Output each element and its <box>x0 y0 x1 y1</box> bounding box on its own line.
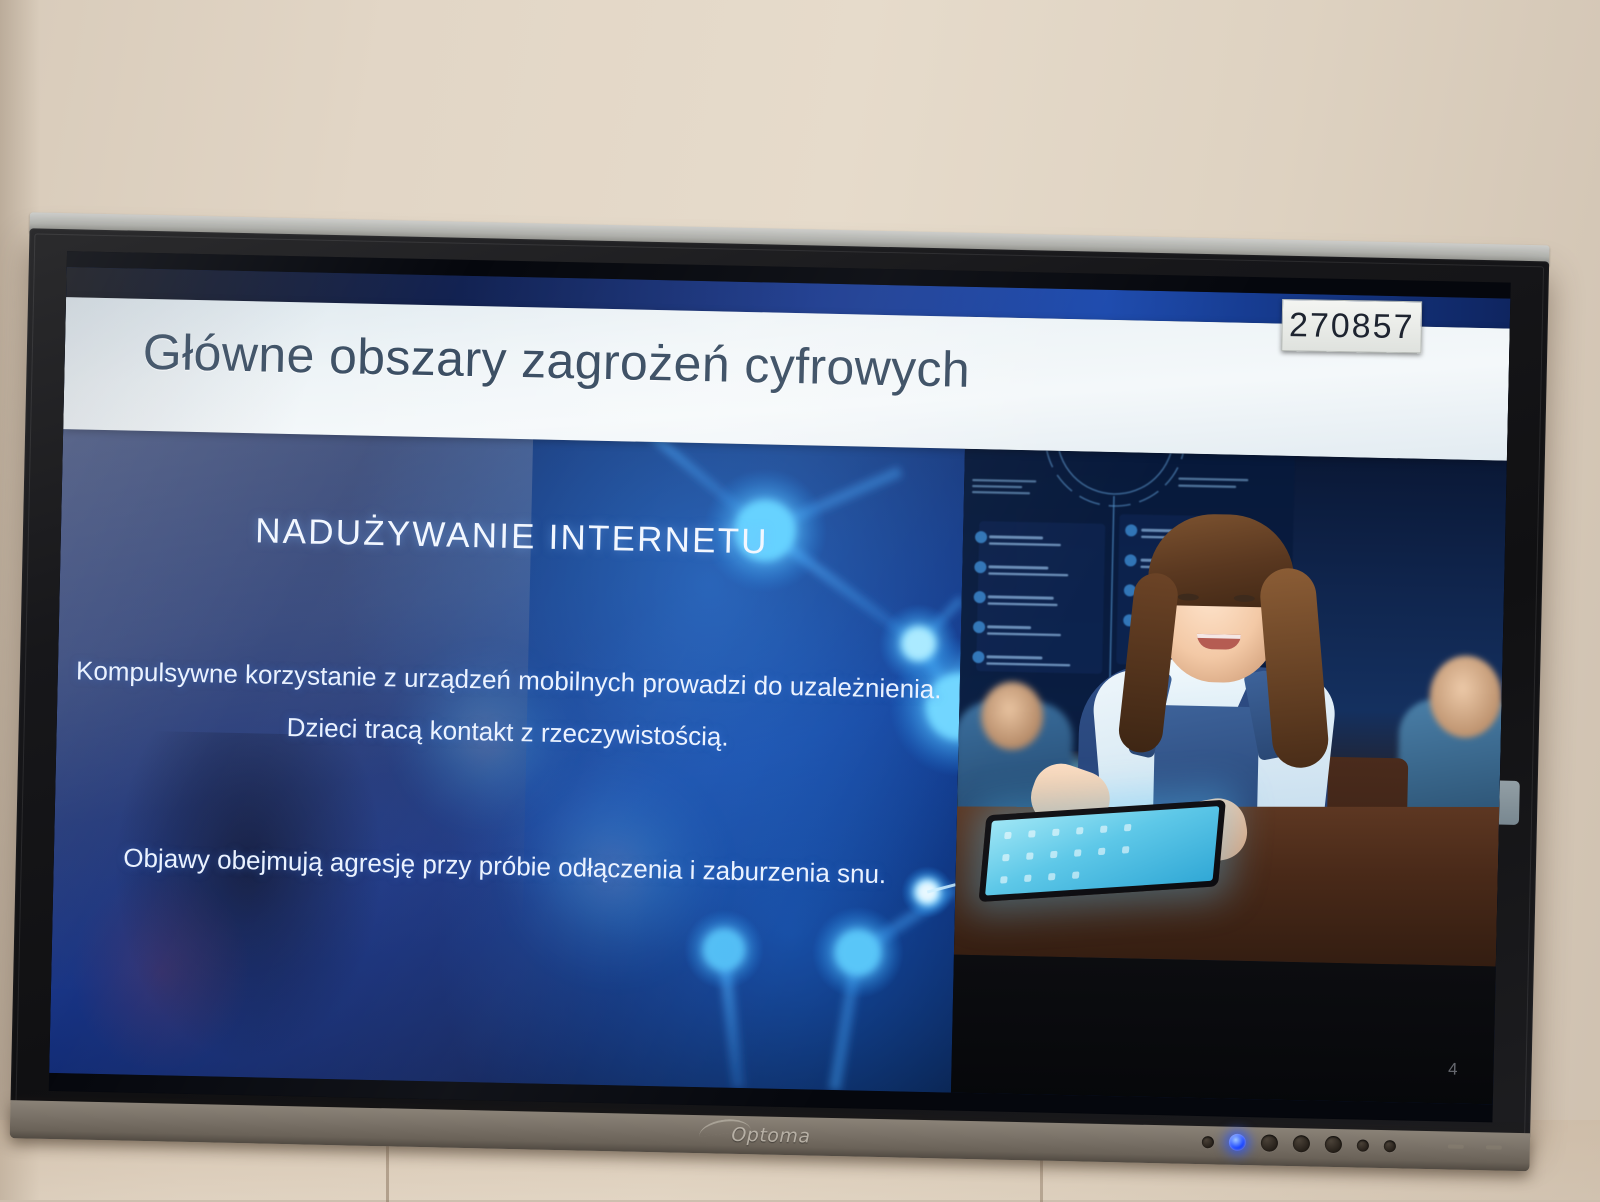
girl-eye-right <box>1234 595 1255 602</box>
presentation-slide[interactable]: NADUŻYWANIE INTERNETU Kompulsywne korzys… <box>49 267 1510 1104</box>
slide-number: 4 <box>1448 1059 1458 1079</box>
page-title: Główne obszary zagrożeń cyfrowych <box>142 323 971 399</box>
interactive-display[interactable]: NADUŻYWANIE INTERNETU Kompulsywne korzys… <box>0 208 1562 1177</box>
home-button[interactable] <box>1384 1140 1396 1152</box>
tablet-screen <box>985 806 1219 896</box>
slide-body-line-3: Objawy obejmują agresję przy próbie odłą… <box>54 841 956 892</box>
brand-logo: Optoma <box>696 1123 847 1152</box>
volume-down-button[interactable] <box>1325 1136 1342 1153</box>
slide-body-line-2: Dzieci tracą kontakt z rzeczywistością. <box>56 707 958 758</box>
glass-reflection-warm <box>69 869 253 1073</box>
glass-reflection-dark <box>109 730 386 1066</box>
ambient-sensor-icon <box>1486 1145 1502 1149</box>
slide-heading: NADUŻYWANIE INTERNETU <box>61 507 964 567</box>
power-button[interactable] <box>1202 1136 1214 1148</box>
slide-left-panel: NADUŻYWANIE INTERNETU Kompulsywne korzys… <box>49 429 965 1093</box>
inventory-sticker: 270857 <box>1281 299 1422 353</box>
menu-button[interactable] <box>1261 1134 1278 1151</box>
input-button[interactable] <box>1293 1135 1310 1152</box>
tablet-device <box>979 800 1226 902</box>
slide-body-line-1: Kompulsywne korzystanie z urządzeń mobil… <box>58 655 960 706</box>
classroom-tablet-photo <box>954 449 1507 967</box>
display-screen[interactable]: NADUŻYWANIE INTERNETU Kompulsywne korzys… <box>49 251 1511 1122</box>
girl-eye-left <box>1178 593 1199 600</box>
volume-up-button[interactable] <box>1357 1139 1369 1151</box>
inventory-number: 270857 <box>1289 306 1415 347</box>
status-led <box>1229 1134 1246 1151</box>
ir-receiver-icon <box>1448 1144 1464 1148</box>
slide-lower-dark-area <box>951 955 1496 1105</box>
